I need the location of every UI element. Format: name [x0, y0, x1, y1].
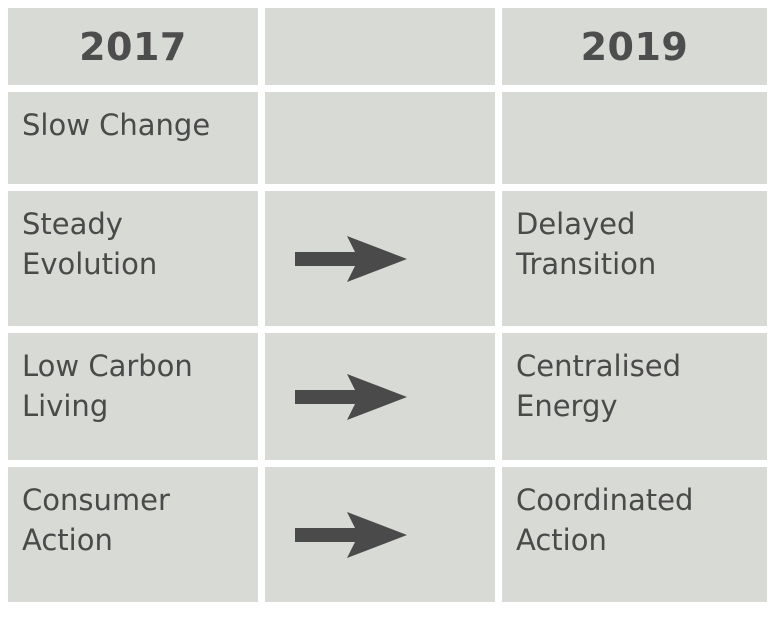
table-row-2-left-cell: Steady Evolution: [8, 191, 258, 326]
header-label-left: 2017: [79, 28, 187, 66]
table-row-4-right-cell: Coordinated Action: [502, 467, 767, 602]
table-row-1-right-cell: [502, 92, 767, 184]
table-row-1-arrow-cell: [265, 92, 495, 184]
scenario-label-old: Low Carbon Living: [22, 346, 248, 426]
arrow-right-icon: [295, 234, 407, 284]
table-row-4-arrow-cell: [265, 467, 495, 602]
table-row-3-arrow-cell: [265, 333, 495, 460]
table-row-3-right-cell: Centralised Energy: [502, 333, 767, 460]
comparison-table: 2017 2019 Slow Change Steady Evolution D…: [0, 0, 768, 621]
scenario-label-new: Delayed Transition: [516, 204, 757, 284]
table-row-1-left-cell: Slow Change: [8, 92, 258, 184]
header-cell-middle: [265, 8, 495, 85]
arrow-right-icon: [295, 372, 407, 422]
scenario-label-old: Steady Evolution: [22, 204, 248, 284]
header-cell-2017: 2017: [8, 8, 258, 85]
scenario-label-new: Centralised Energy: [516, 346, 757, 426]
table-row-4-left-cell: Consumer Action: [8, 467, 258, 602]
table-grid: 2017 2019 Slow Change Steady Evolution D…: [8, 8, 760, 605]
table-row-2-right-cell: Delayed Transition: [502, 191, 767, 326]
header-cell-2019: 2019: [502, 8, 767, 85]
scenario-label-old: Slow Change: [22, 105, 248, 145]
arrow-right-icon: [295, 510, 407, 560]
scenario-label-old: Consumer Action: [22, 480, 248, 560]
table-row-2-arrow-cell: [265, 191, 495, 326]
table-row-3-left-cell: Low Carbon Living: [8, 333, 258, 460]
scenario-label-new: Coordinated Action: [516, 480, 757, 560]
header-label-right: 2019: [581, 28, 689, 66]
